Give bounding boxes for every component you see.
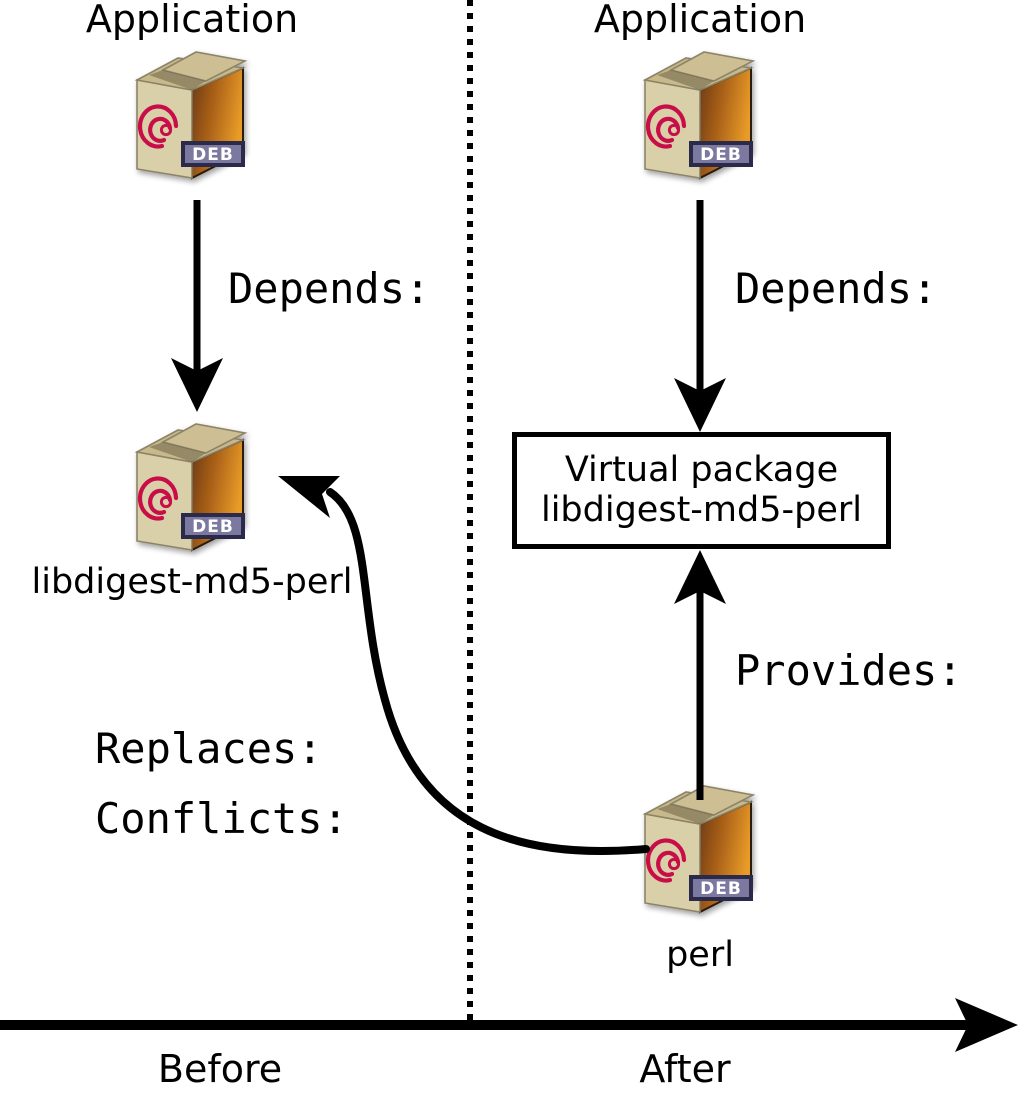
before-column-heading: Application (86, 0, 298, 38)
svg-text:DEB: DEB (192, 517, 234, 537)
timeline-arrow-icon (0, 998, 1018, 1052)
virtual-package-line2: libdigest-md5-perl (541, 491, 862, 530)
debian-package-icon-before-application: DEB (116, 48, 268, 188)
svg-text:DEB: DEB (192, 145, 234, 165)
edge-label-conflicts: Conflicts: (95, 798, 348, 840)
virtual-package-box: Virtual package libdigest-md5-perl (512, 432, 891, 549)
arrow-after-provides (674, 550, 726, 800)
edge-label-after-depends: Depends: (735, 268, 937, 310)
debian-package-icon-libdigest-md5-perl: DEB (116, 420, 268, 560)
svg-text:DEB: DEB (700, 145, 742, 165)
deb-badge-icon: DEB (181, 513, 245, 539)
edge-label-replaces: Replaces: (95, 728, 323, 770)
edge-label-after-provides: Provides: (735, 650, 963, 692)
arrow-after-depends (674, 200, 726, 432)
deb-badge-icon: DEB (181, 141, 245, 167)
svg-text:DEB: DEB (700, 879, 742, 899)
deb-badge-icon: DEB (689, 875, 753, 901)
after-column-heading: Application (594, 0, 806, 38)
edge-label-before-depends: Depends: (228, 268, 430, 310)
deb-badge-icon: DEB (689, 141, 753, 167)
arrow-before-depends (171, 200, 223, 412)
timeline-label-before: Before (158, 1050, 282, 1088)
debian-package-icon-after-application: DEB (624, 48, 776, 188)
debian-package-icon-perl: DEB (624, 782, 776, 922)
package-label-libdigest-md5-perl: libdigest-md5-perl (31, 565, 352, 600)
package-label-perl: perl (666, 938, 734, 973)
virtual-package-line1: Virtual package (565, 451, 838, 490)
vertical-dotted-divider-icon (467, 0, 473, 1028)
diagram-canvas: Application Application (0, 0, 1024, 1094)
timeline-label-after: After (639, 1050, 730, 1088)
